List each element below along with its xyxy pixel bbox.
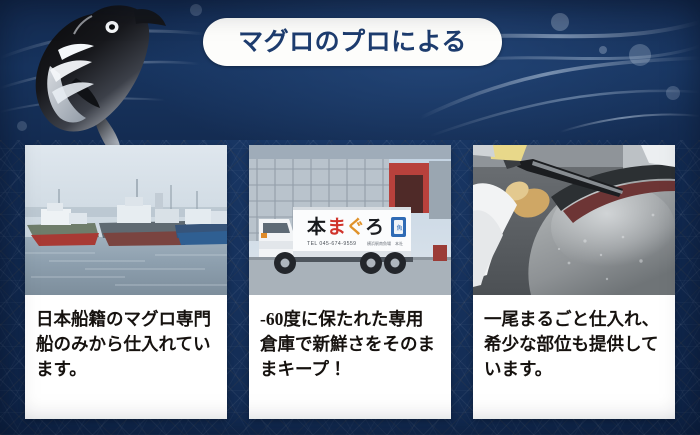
feature-card-caption: 日本船籍のマグロ専門船のみから仕入れています。 xyxy=(25,295,227,419)
headline-container: 美味しいマグロへのこだわり xyxy=(0,72,700,121)
delivery-truck-photo: 本 ま ぐ ろ 魚 TEL 045-674-9559 横浜駅南魚場 本社 xyxy=(249,145,451,295)
page-title: 美味しいマグロへのこだわり xyxy=(54,72,646,121)
feature-card: 本 ま ぐ ろ 魚 TEL 045-674-9559 横浜駅南魚場 本社 xyxy=(249,145,451,419)
svg-text:横浜駅南魚場 本社: 横浜駅南魚場 本社 xyxy=(367,240,403,246)
tuna-cutting-photo xyxy=(473,145,675,295)
svg-text:本: 本 xyxy=(306,215,327,238)
feature-card: 一尾まるごと仕入れ、希少な部位も提供しています。 xyxy=(473,145,675,419)
svg-text:ろ: ろ xyxy=(365,217,384,238)
header-badge-label: マグロのプロによる xyxy=(238,30,467,55)
fishing-boats-harbor-photo xyxy=(25,145,227,295)
svg-text:ま: ま xyxy=(327,216,346,238)
banner-header: マグロのプロによる 美味しいマグロへのこだわり xyxy=(0,0,700,140)
promotional-banner: マグロのプロによる 美味しいマグロへのこだわり xyxy=(0,0,700,435)
feature-card: 日本船籍のマグロ専門船のみから仕入れています。 xyxy=(25,145,227,419)
svg-text:ぐ: ぐ xyxy=(346,216,365,238)
svg-text:TEL 045-674-9559: TEL 045-674-9559 xyxy=(307,241,356,247)
svg-text:魚: 魚 xyxy=(397,224,403,232)
feature-card-list: 日本船籍のマグロ専門船のみから仕入れています。 xyxy=(0,140,700,435)
feature-card-caption: -60度に保たれた専用倉庫で新鮮さをそのままキープ！ xyxy=(249,295,451,419)
header-badge: マグロのプロによる xyxy=(203,18,502,66)
feature-card-caption: 一尾まるごと仕入れ、希少な部位も提供しています。 xyxy=(473,295,675,419)
